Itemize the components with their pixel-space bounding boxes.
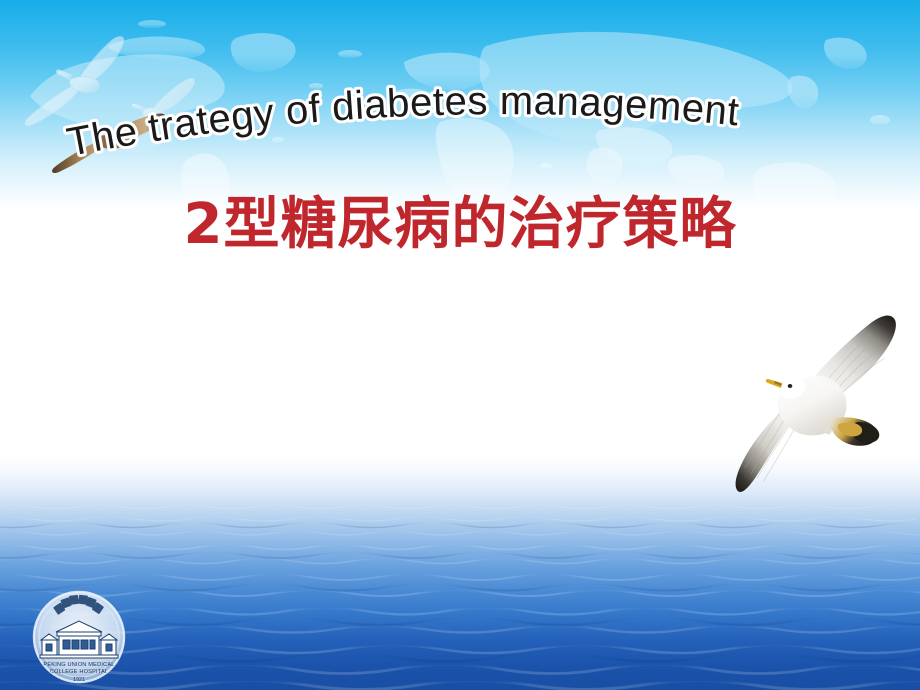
seagull-main-right-icon [735, 300, 907, 508]
logo-english-line2: COLLEGE HOSPITAL [50, 669, 108, 675]
logo-english-line1: PEKING UNION MEDICAL [43, 662, 114, 668]
chinese-title: 2型糖尿病的治疗策略 [0, 194, 920, 256]
pumch-logo: PEKING UNION MEDICAL COLLEGE HOSPITAL 19… [26, 588, 132, 686]
presentation-slide: The trategy of diabetes management The t… [0, 0, 920, 690]
seagull-brown-icon [48, 106, 170, 174]
